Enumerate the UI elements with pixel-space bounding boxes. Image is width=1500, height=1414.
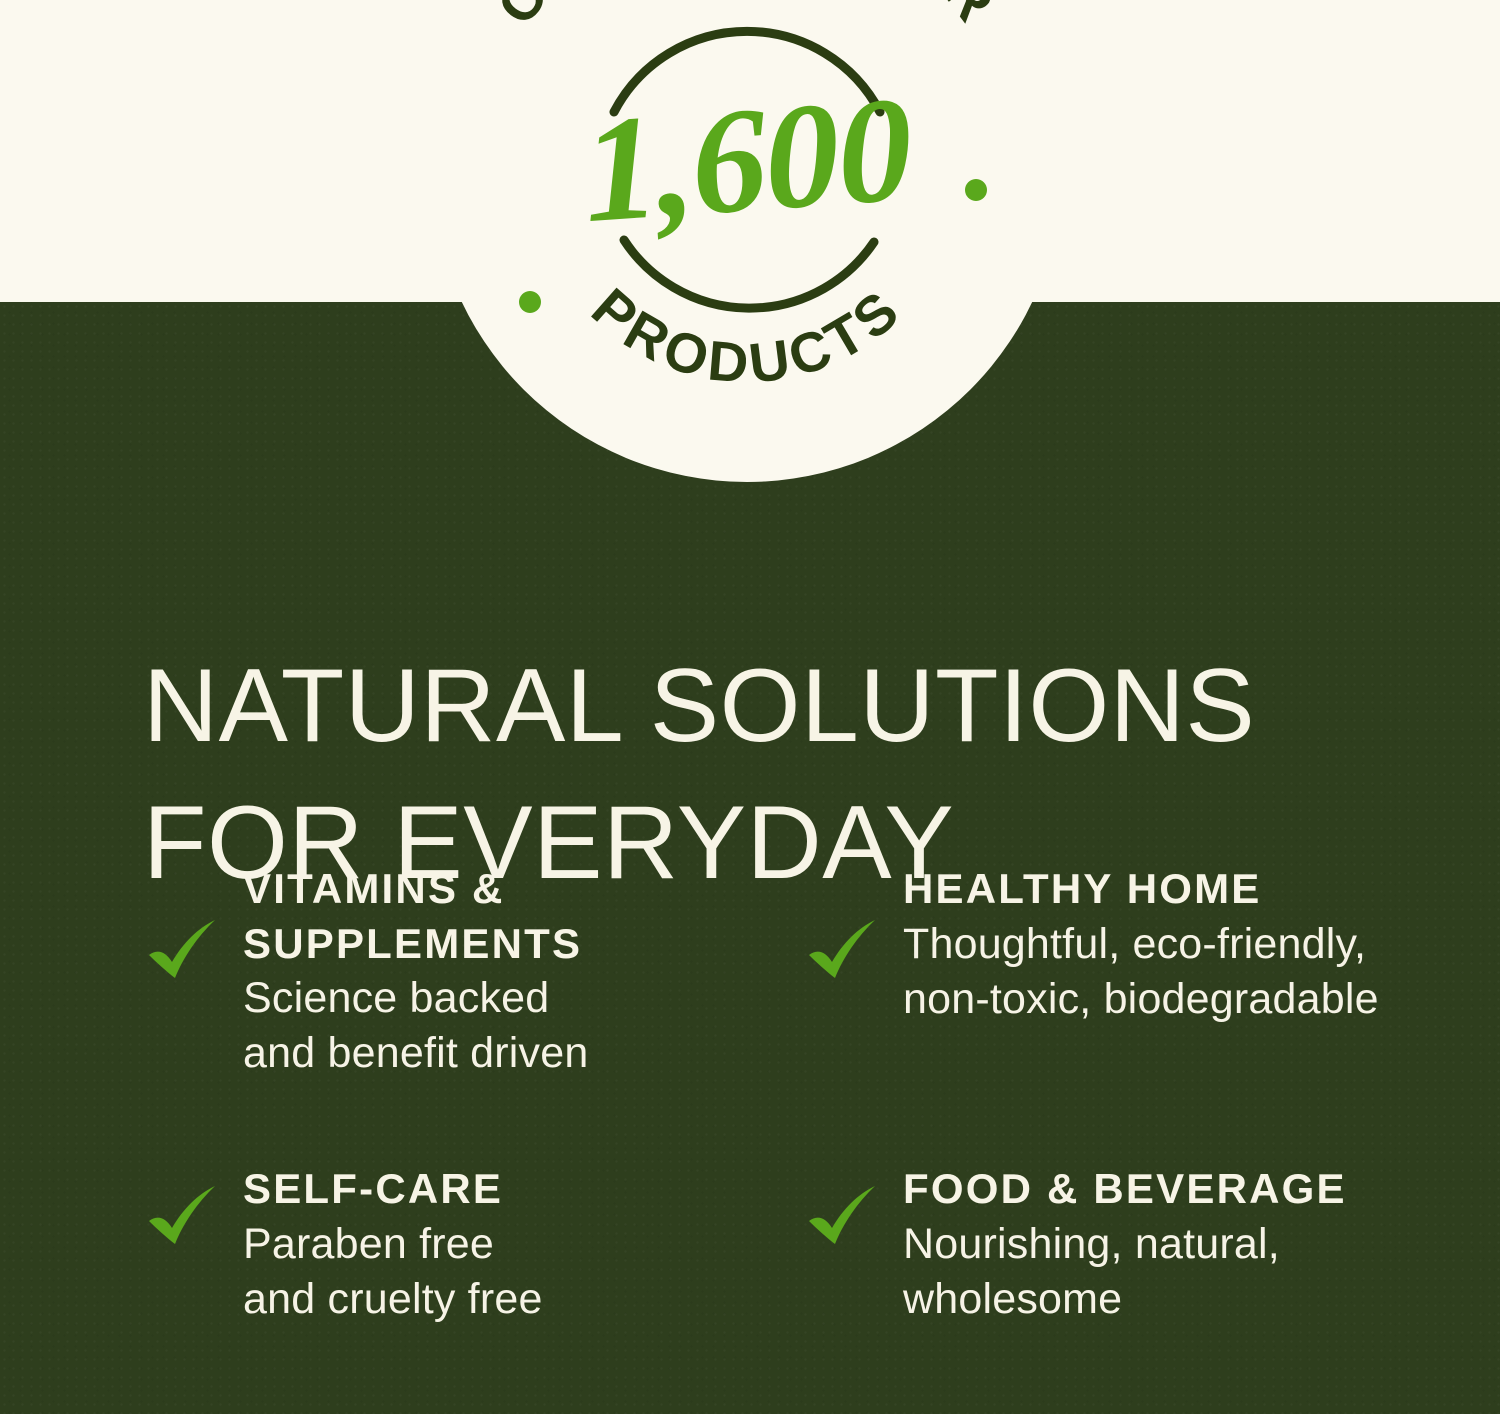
feature-title-line-2: SUPPLEMENTS [243,920,582,967]
feature-vitamins-supplements: VITAMINS & SUPPLEMENTS Science backed an… [143,862,803,1162]
feature-title-line-1: VITAMINS & [243,865,505,912]
feature-desc-line-1: Thoughtful, eco-friendly, [903,917,1433,972]
feature-description: Paraben free and cruelty free [243,1217,803,1327]
promo-banner: OFFERING OVER PRODUCTS 1,600 NATURAL SOL… [0,0,1500,1414]
feature-description: Science backed and benefit driven [243,971,803,1081]
feature-desc-line-2: non-toxic, biodegradable [903,972,1433,1027]
feature-title-line-1: HEALTHY HOME [903,865,1262,912]
green-checkmark-icon [145,1184,223,1250]
feature-desc-line-1: Paraben free [243,1217,803,1272]
feature-title: SELF-CARE [243,1162,803,1217]
feature-grid: VITAMINS & SUPPLEMENTS Science backed an… [143,862,1433,1327]
feature-desc-line-1: Science backed [243,971,803,1026]
badge-product-count: 1,600 [578,63,917,257]
feature-self-care: SELF-CARE Paraben free and cruelty free [143,1162,803,1327]
green-checkmark-icon [145,918,223,984]
green-checkmark-icon [805,918,883,984]
feature-desc-line-2: and cruelty free [243,1272,803,1327]
badge-number-wrapper: 1,600 [431,0,1063,482]
feature-desc-line-2: wholesome [903,1272,1433,1327]
feature-desc-line-2: and benefit driven [243,1026,803,1081]
feature-food-beverage: FOOD & BEVERAGE Nourishing, natural, who… [803,1162,1433,1327]
feature-title: HEALTHY HOME [903,862,1433,917]
feature-healthy-home: HEALTHY HOME Thoughtful, eco-friendly, n… [803,862,1433,1162]
headline-line-1: NATURAL SOLUTIONS [143,638,1403,775]
feature-description: Thoughtful, eco-friendly, non-toxic, bio… [903,917,1433,1027]
feature-description: Nourishing, natural, wholesome [903,1217,1433,1327]
feature-title: FOOD & BEVERAGE [903,1162,1433,1217]
green-checkmark-icon [805,1184,883,1250]
feature-desc-line-1: Nourishing, natural, [903,1217,1433,1272]
feature-title-line-1: FOOD & BEVERAGE [903,1165,1347,1212]
feature-title-line-1: SELF-CARE [243,1165,503,1212]
feature-title: VITAMINS & SUPPLEMENTS [243,862,803,971]
